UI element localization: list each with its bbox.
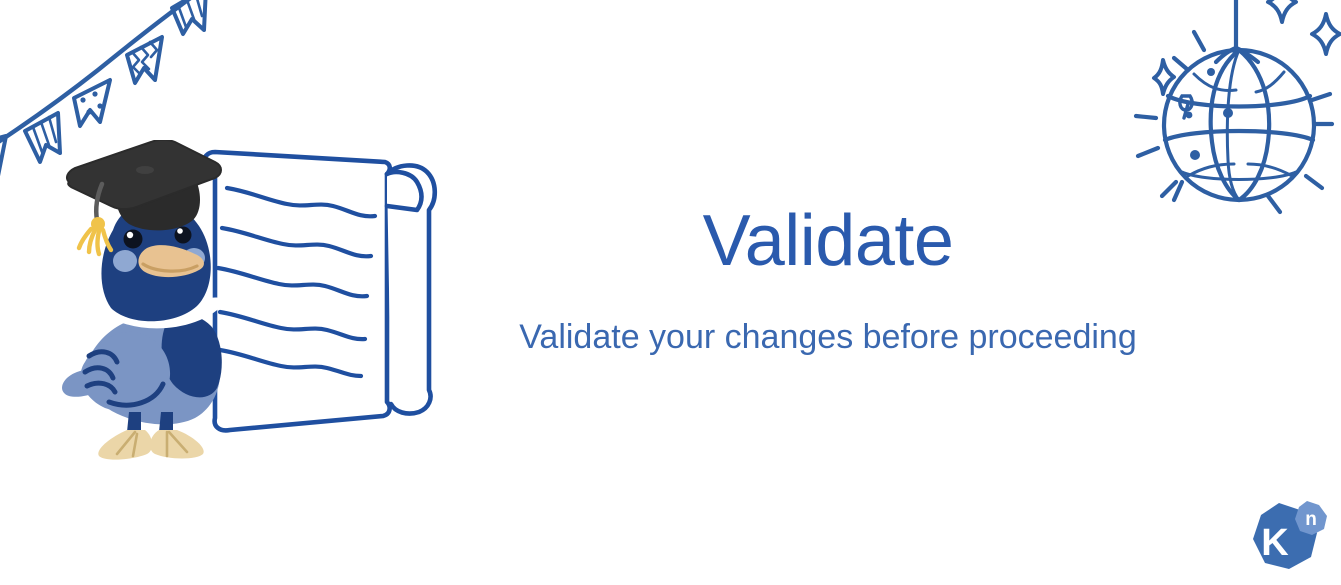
page-subtitle: Validate your changes before proceeding (470, 317, 1186, 358)
page-title: Validate (470, 205, 1186, 277)
party-bunting-icon (0, 0, 230, 185)
bird-body (62, 201, 225, 460)
kn-logo-icon[interactable]: K n (1245, 497, 1329, 577)
graduation-cap-icon (67, 140, 221, 254)
slide-text-block: Validate Validate your changes before pr… (470, 205, 1186, 358)
graduate-bird-mascot-icon (55, 140, 475, 470)
slide-canvas: Validate Validate your changes before pr… (0, 0, 1341, 585)
logo-letter-n: n (1305, 509, 1317, 530)
disco-ball-icon (1116, 0, 1341, 235)
scroll-certificate-icon (204, 152, 434, 430)
logo-letter-k: K (1261, 522, 1289, 564)
